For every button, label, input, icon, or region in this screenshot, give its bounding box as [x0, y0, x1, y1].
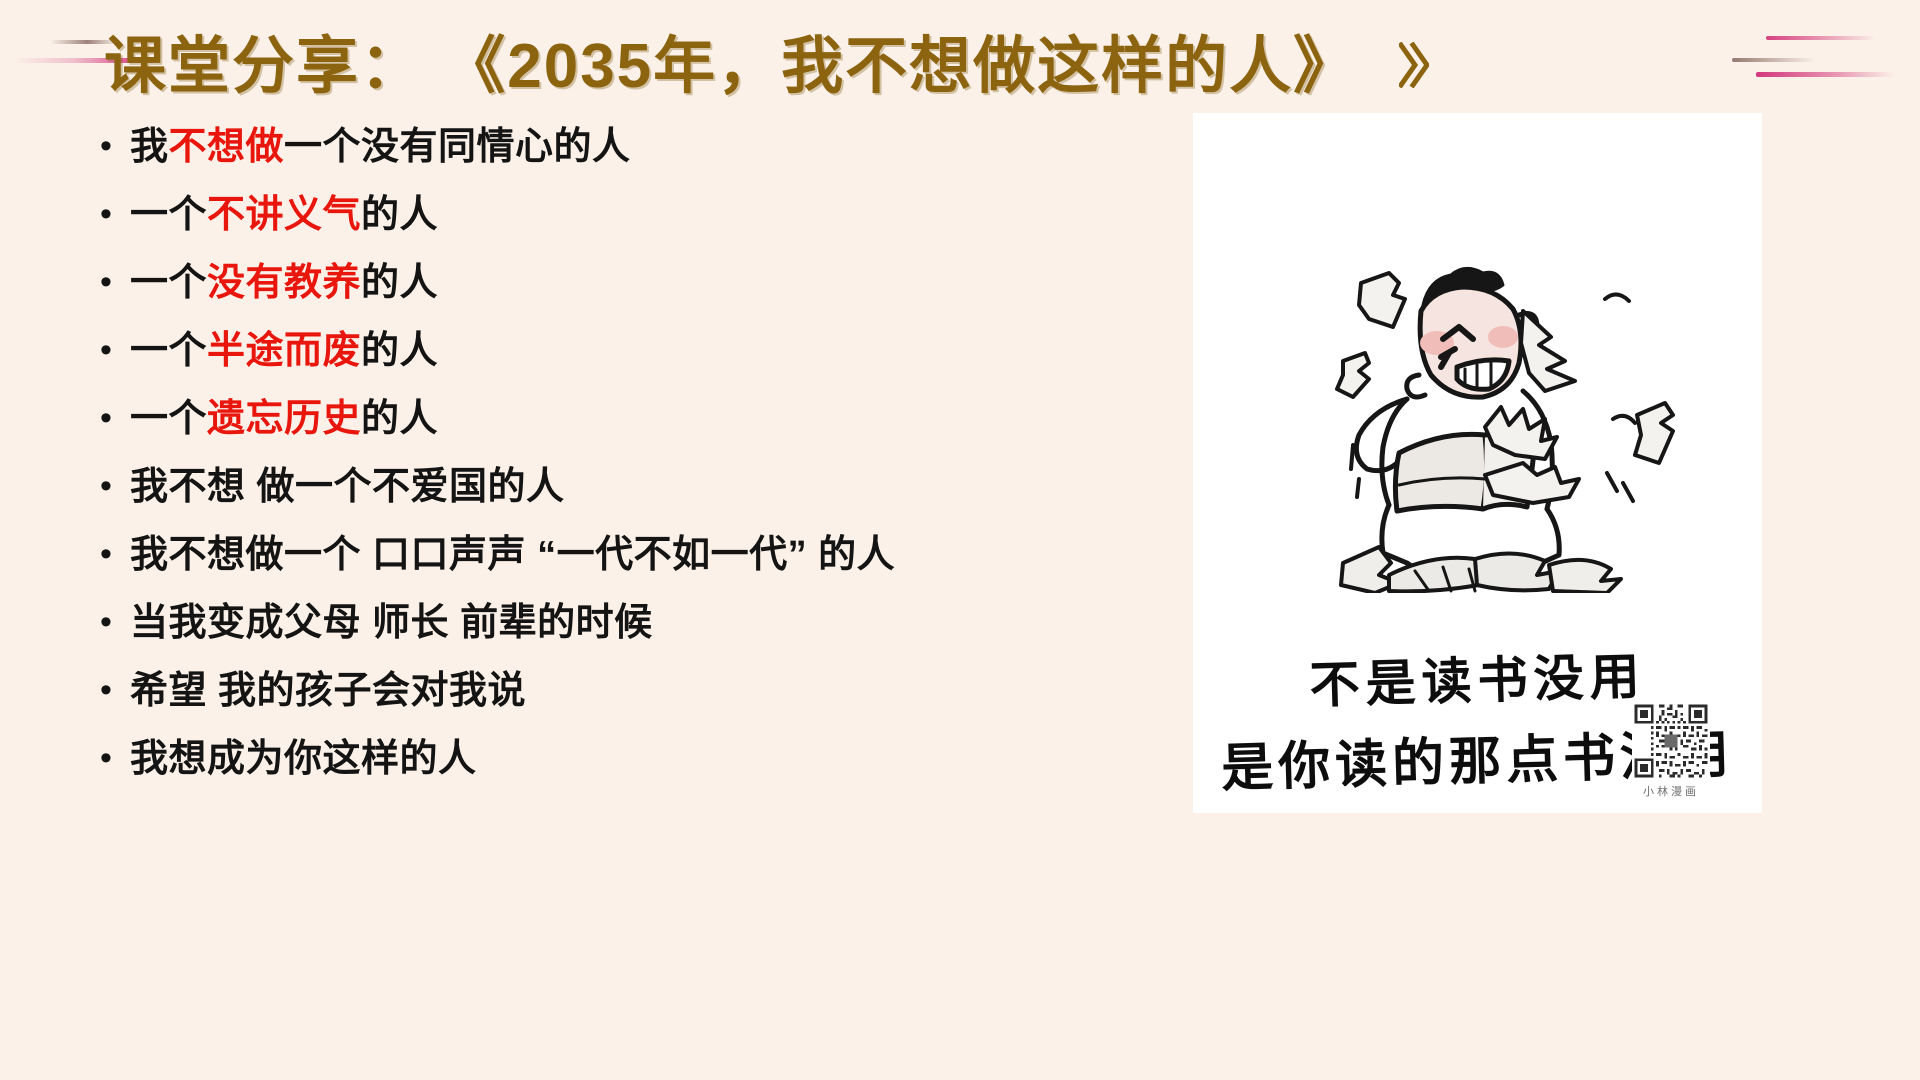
bullet-plain: 的人: [361, 194, 438, 236]
bullet-plain: 的人: [361, 330, 438, 372]
qr-block: 小林漫画: [1628, 702, 1714, 799]
bullet-text: 我不想做一个没有同情心的人: [130, 128, 631, 166]
bullet-marker-icon: •: [100, 537, 130, 571]
bullet-marker-icon: •: [100, 469, 130, 503]
bullet-marker-icon: •: [100, 197, 130, 231]
bullet-marker-icon: •: [100, 741, 130, 775]
decoration-right-line-pink-top: [1766, 36, 1876, 40]
bullet-text: 一个遗忘历史的人: [130, 400, 438, 438]
bullet-plain: 的人: [361, 398, 438, 440]
page-title: 课堂分享： 《2035年，我不想做这样的人》: [104, 28, 1357, 106]
slide-root: 课堂分享： 《2035年，我不想做这样的人》 •我不想做一个没有同情心的人•一个…: [0, 0, 1920, 1080]
decoration-right-line-gray: [1732, 58, 1816, 62]
bullet-marker-icon: •: [100, 605, 130, 639]
bullet-text: 我不想做一个 口口声声 “一代不如一代” 的人: [130, 536, 895, 574]
bullet-highlight: 半途而废: [207, 330, 361, 372]
bullet-marker-icon: •: [100, 401, 130, 435]
bullet-item-4: •一个半途而废的人: [100, 332, 1100, 400]
bullet-plain: 我想成为你这样的人: [130, 738, 477, 780]
slide-header: 课堂分享： 《2035年，我不想做这样的人》: [0, 0, 1920, 125]
bullet-plain: 我不想做一个 口口声声 “一代不如一代” 的人: [130, 534, 895, 576]
bullet-text: 当我变成父母 师长 前辈的时候: [130, 604, 653, 642]
bullet-item-5: •一个遗忘历史的人: [100, 400, 1100, 468]
bullet-item-3: •一个没有教养的人: [100, 264, 1100, 332]
bullet-highlight: 遗忘历史: [207, 398, 361, 440]
bullet-item-2: •一个不讲义气的人: [100, 196, 1100, 264]
bullet-plain: 希望 我的孩子会对我说: [130, 670, 526, 712]
bullet-text: 一个没有教养的人: [130, 264, 438, 302]
decoration-right-line-pink-bottom: [1756, 72, 1894, 77]
bullet-list: •我不想做一个没有同情心的人•一个不讲义气的人•一个没有教养的人•一个半途而废的…: [100, 128, 1100, 808]
bullet-item-6: •我不想 做一个不爱国的人: [100, 468, 1100, 536]
bullet-highlight: 没有教养: [207, 262, 361, 304]
bullet-plain: 我不想 做一个不爱国的人: [130, 466, 565, 508]
bullet-item-9: •希望 我的孩子会对我说: [100, 672, 1100, 740]
decoration-right: [1682, 22, 1902, 92]
cartoon-boy-tearing-book-icon: [1193, 123, 1762, 593]
bullet-marker-icon: •: [100, 265, 130, 299]
bullet-plain: 一个没有同情心的人: [284, 126, 631, 168]
qr-code-icon: [1632, 702, 1710, 780]
bullet-marker-icon: •: [100, 333, 130, 367]
bullet-text: 我不想 做一个不爱国的人: [130, 468, 565, 506]
bullet-text: 我想成为你这样的人: [130, 740, 477, 778]
bullet-text: 一个半途而废的人: [130, 332, 438, 370]
bullet-text: 一个不讲义气的人: [130, 196, 438, 234]
bullet-text: 希望 我的孩子会对我说: [130, 672, 526, 710]
qr-label: 小林漫画: [1628, 783, 1714, 799]
bullet-plain: 一个: [130, 194, 207, 236]
illustration-card: 不是读书没用 是你读的那点书没用: [1193, 113, 1762, 813]
bullet-plain: 当我变成父母 师长 前辈的时候: [130, 602, 653, 644]
bullet-marker-icon: •: [100, 129, 130, 163]
bullet-item-7: •我不想做一个 口口声声 “一代不如一代” 的人: [100, 536, 1100, 604]
bullet-plain: 的人: [361, 262, 438, 304]
bullet-highlight: 不想做: [169, 126, 285, 168]
bullet-plain: 一个: [130, 330, 207, 372]
bullet-item-8: •当我变成父母 师长 前辈的时候: [100, 604, 1100, 672]
bullet-plain: 一个: [130, 262, 207, 304]
bullet-item-1: •我不想做一个没有同情心的人: [100, 128, 1100, 196]
bullet-item-10: •我想成为你这样的人: [100, 740, 1100, 808]
bullet-plain: 我: [130, 126, 169, 168]
bullet-marker-icon: •: [100, 673, 130, 707]
bullet-plain: 一个: [130, 398, 207, 440]
chevron-right-icon: [1399, 42, 1429, 88]
bullet-highlight: 不讲义气: [207, 194, 361, 236]
